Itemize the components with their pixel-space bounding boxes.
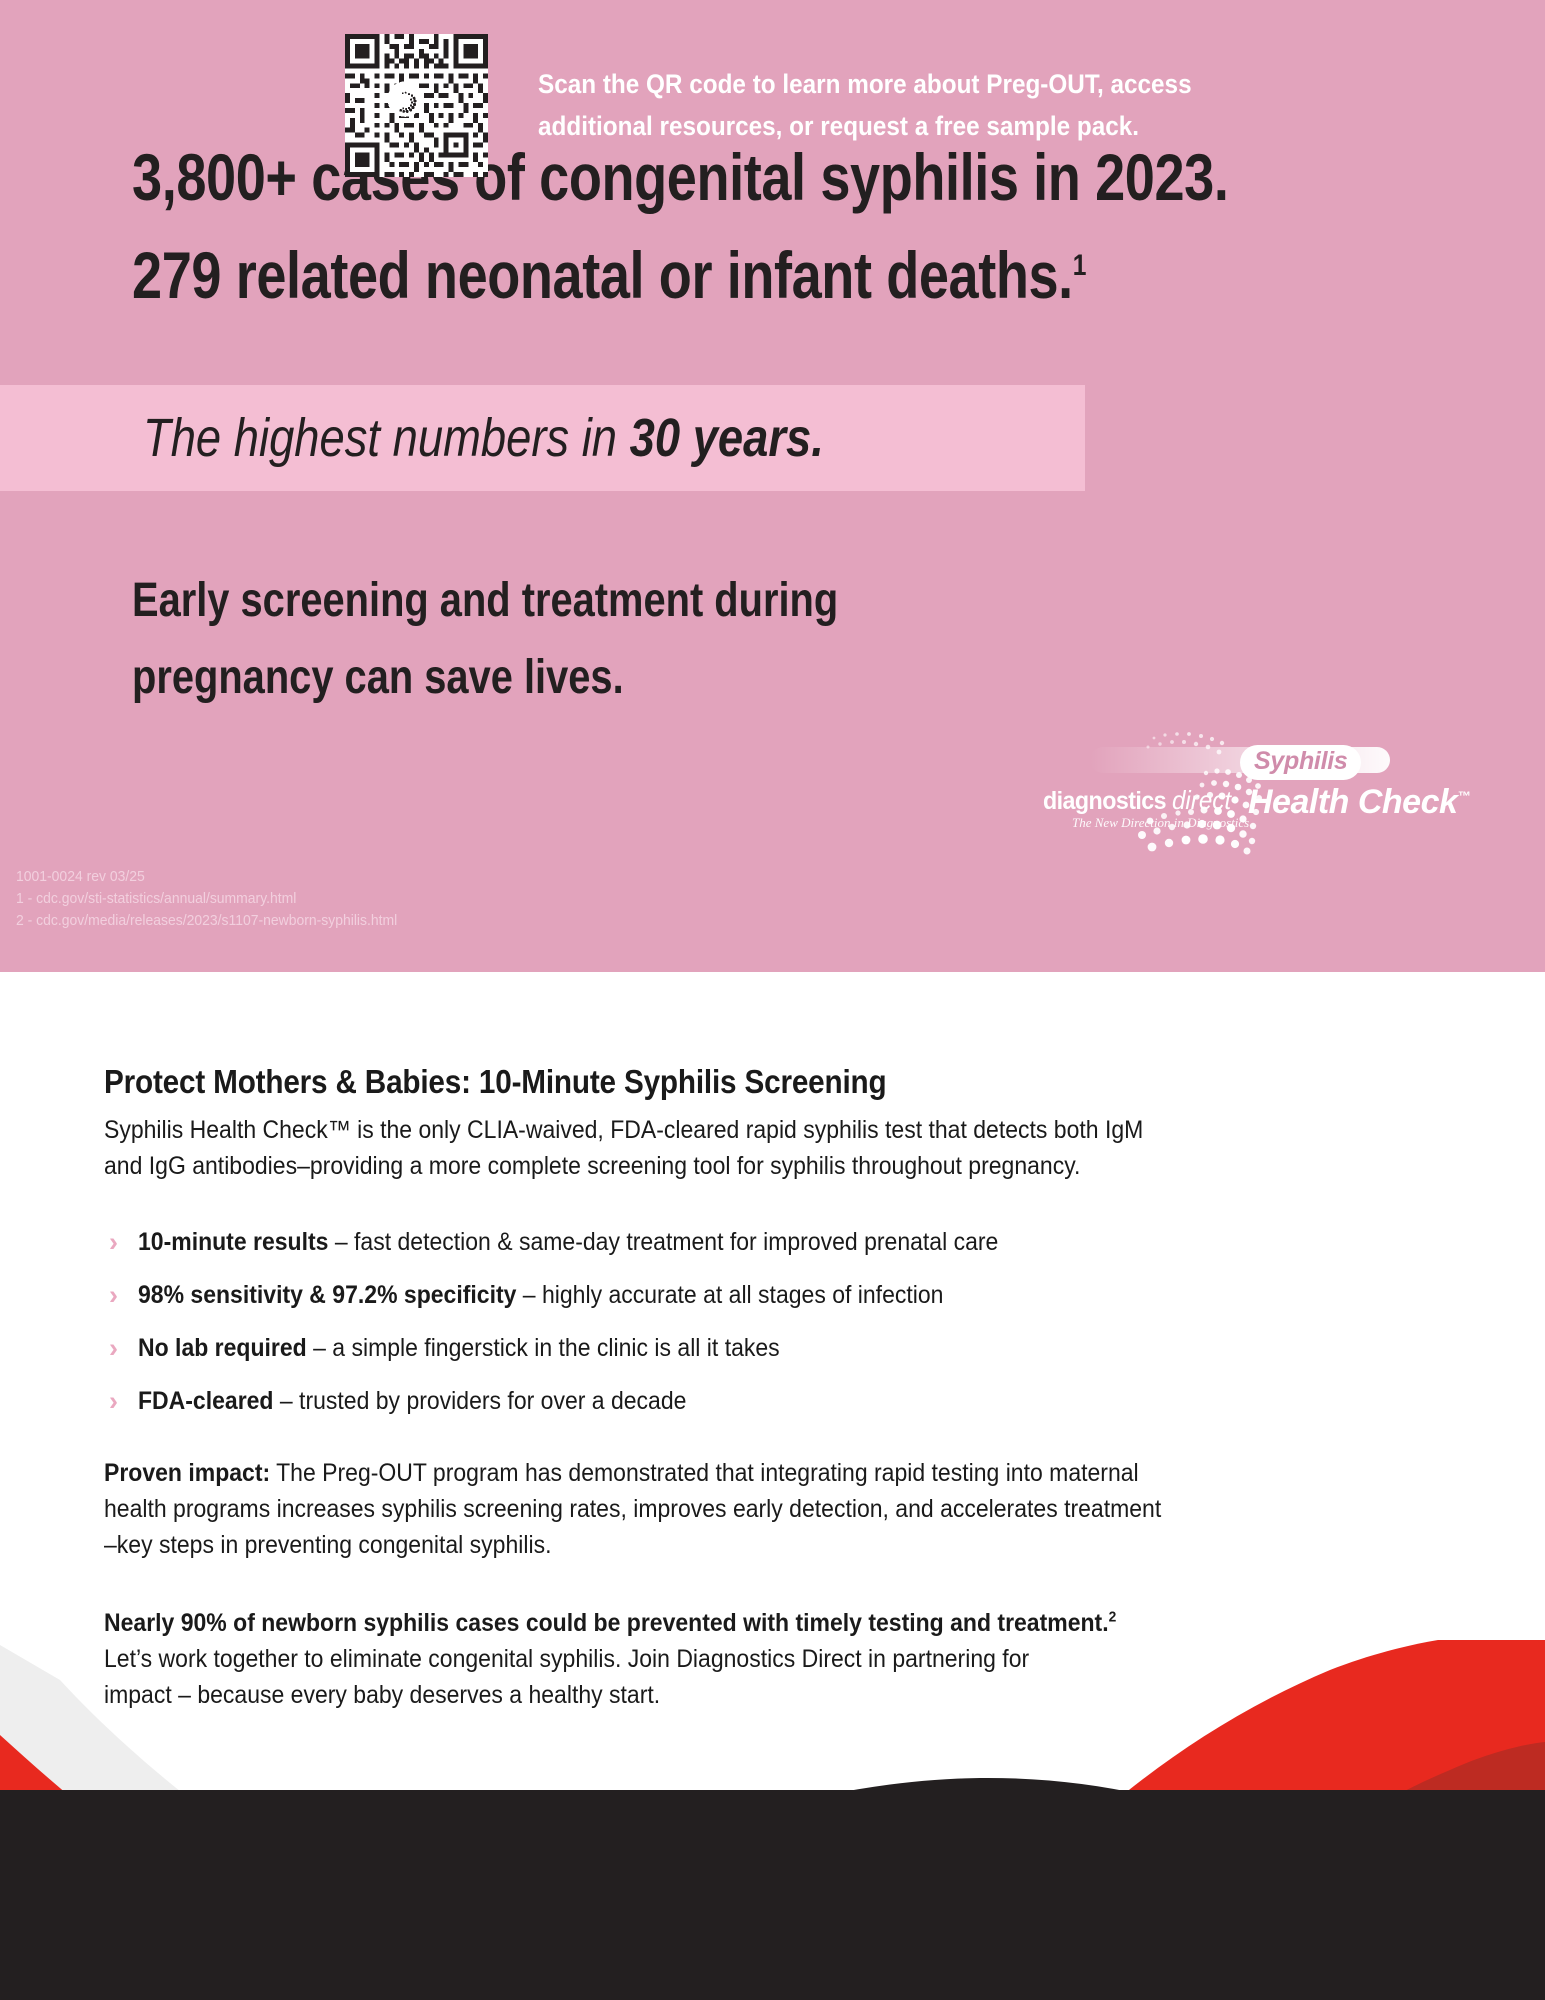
bullet-rest: – trusted by providers for over a decade bbox=[273, 1387, 686, 1415]
feature-bullet-list: › 10-minute results – fast detection & s… bbox=[104, 1226, 1354, 1417]
footer-cta-text: Scan the QR code to learn more about Pre… bbox=[538, 63, 1192, 147]
logo-product-pill: Syphilis bbox=[1240, 745, 1361, 780]
list-item: › FDA-cleared – trusted by providers for… bbox=[104, 1385, 1354, 1417]
proven-impact-label: Proven impact: bbox=[104, 1459, 270, 1487]
headline-line-2-text: 279 related neonatal or infant deaths. bbox=[132, 238, 1073, 312]
highlight-prefix: The highest numbers in bbox=[143, 408, 630, 468]
bullet-strong: No lab required bbox=[138, 1334, 307, 1362]
list-item: › 10-minute results – fast detection & s… bbox=[104, 1226, 1354, 1258]
logo-product-name: Health Check™ bbox=[1248, 783, 1470, 822]
bullet-text: 10-minute results – fast detection & sam… bbox=[138, 1226, 998, 1258]
proven-impact-paragraph: Proven impact: The Preg-OUT program has … bbox=[104, 1455, 1354, 1563]
chevron-right-icon: › bbox=[104, 1226, 138, 1258]
bullet-text: FDA-cleared – trusted by providers for o… bbox=[138, 1385, 686, 1417]
logo-company-italic: direct bbox=[1172, 785, 1231, 815]
footer-line-1: Scan the QR code to learn more about Pre… bbox=[538, 63, 1192, 105]
logo-company-name: diagnostics direct bbox=[1043, 785, 1231, 816]
proven-line-2: health programs increases syphilis scree… bbox=[104, 1491, 1328, 1527]
brand-logo-lockup: diagnostics direct The New Direction in … bbox=[1030, 725, 1430, 865]
logo-trademark-symbol: ™ bbox=[1457, 789, 1470, 804]
qr-center-logo-icon bbox=[387, 81, 423, 117]
chevron-right-icon: › bbox=[104, 1385, 138, 1417]
bullet-rest: – fast detection & same-day treatment fo… bbox=[328, 1228, 998, 1256]
proven-line-1: Proven impact: The Preg-OUT program has … bbox=[104, 1455, 1328, 1491]
list-item: › 98% sensitivity & 97.2% specificity – … bbox=[104, 1279, 1354, 1311]
headline-footnote-marker: 1 bbox=[1073, 249, 1086, 282]
highlight-strong: 30 years. bbox=[630, 408, 824, 468]
closing-bold-line: Nearly 90% of newborn syphilis cases cou… bbox=[104, 1605, 1328, 1641]
bullet-rest: – highly accurate at all stages of infec… bbox=[516, 1281, 943, 1309]
body-content: Protect Mothers & Babies: 10-Minute Syph… bbox=[104, 1062, 1354, 1713]
highlight-band: The highest numbers in 30 years. bbox=[0, 385, 1085, 491]
intro-line-2: and IgG antibodies–providing a more comp… bbox=[104, 1148, 1328, 1184]
bullet-rest: – a simple fingerstick in the clinic is … bbox=[307, 1334, 780, 1362]
hero-subheadline: Early screening and treatment during pre… bbox=[132, 562, 1045, 716]
list-item: › No lab required – a simple fingerstick… bbox=[104, 1332, 1354, 1364]
section-intro-paragraph: Syphilis Health Check™ is the only CLIA-… bbox=[104, 1112, 1328, 1184]
closing-bold-text: Nearly 90% of newborn syphilis cases cou… bbox=[104, 1609, 1109, 1637]
subheadline-line-2: pregnancy can save lives. bbox=[132, 639, 1045, 716]
chevron-right-icon: › bbox=[104, 1279, 138, 1311]
headline-line-2: 279 related neonatal or infant deaths.1 bbox=[132, 226, 1214, 324]
bullet-strong: 10-minute results bbox=[138, 1228, 328, 1256]
qr-code-image[interactable] bbox=[345, 34, 488, 177]
footnote-source-1: 1 - cdc.gov/sti-statistics/annual/summar… bbox=[16, 888, 397, 910]
highlight-band-text: The highest numbers in 30 years. bbox=[143, 407, 824, 469]
section-title: Protect Mothers & Babies: 10-Minute Syph… bbox=[104, 1062, 1229, 1102]
hero-footnotes: 1001-0024 rev 03/25 1 - cdc.gov/sti-stat… bbox=[16, 866, 397, 932]
chevron-right-icon: › bbox=[104, 1332, 138, 1364]
logo-product-name-text: Health Check bbox=[1248, 783, 1457, 821]
closing-footnote-marker: 2 bbox=[1109, 1609, 1117, 1626]
logo-company-bold: diagnostics bbox=[1043, 787, 1172, 815]
logo-tagline: The New Direction in Diagnostics bbox=[1072, 815, 1249, 831]
proven-line-3: –key steps in preventing congenital syph… bbox=[104, 1527, 1328, 1563]
footer-line-2: additional resources, or request a free … bbox=[538, 105, 1192, 147]
footer-content: Scan the QR code to learn more about Pre… bbox=[0, 0, 1545, 210]
bullet-strong: FDA-cleared bbox=[138, 1387, 273, 1415]
proven-line-1-rest: The Preg-OUT program has demonstrated th… bbox=[270, 1459, 1139, 1487]
bullet-text: No lab required – a simple fingerstick i… bbox=[138, 1332, 780, 1364]
subheadline-line-1: Early screening and treatment during bbox=[132, 562, 1045, 639]
footnote-source-2: 2 - cdc.gov/media/releases/2023/s1107-ne… bbox=[16, 910, 397, 932]
footer-bar bbox=[0, 1790, 1545, 2000]
bullet-strong: 98% sensitivity & 97.2% specificity bbox=[138, 1281, 516, 1309]
intro-line-1: Syphilis Health Check™ is the only CLIA-… bbox=[104, 1112, 1328, 1148]
footnote-revision: 1001-0024 rev 03/25 bbox=[16, 866, 397, 888]
flyer-page: 3,800+ cases of congenital syphilis in 2… bbox=[0, 0, 1545, 2000]
bullet-text: 98% sensitivity & 97.2% specificity – hi… bbox=[138, 1279, 943, 1311]
qr-code[interactable] bbox=[345, 34, 488, 177]
